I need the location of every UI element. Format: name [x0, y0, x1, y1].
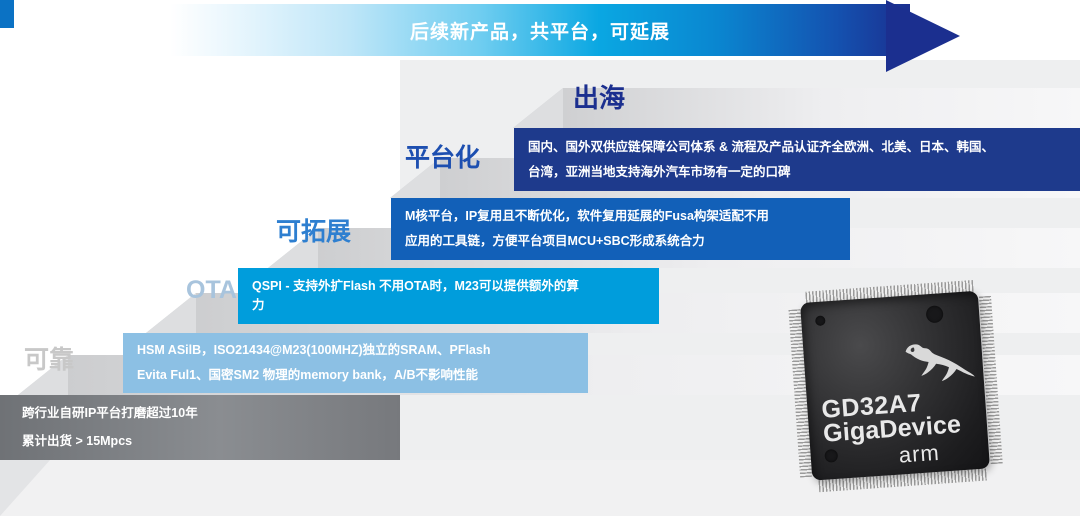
info-line: 力 — [252, 296, 645, 315]
chip-architecture: arm — [898, 440, 941, 469]
step-label-text: 可拓展 — [276, 218, 351, 246]
cheetah-logo-icon — [899, 335, 976, 386]
info-line: 国内、国外双供应链保障公司体系 & 流程及产品认证齐全欧洲、北美、日本、韩国、 — [528, 135, 1066, 160]
step-label-pingtaihua: 平台化 — [405, 138, 480, 174]
info-line: 应用的工具链，方便平台项目MCU+SBC形成系统合力 — [405, 229, 836, 254]
info-line: M核平台，IP复用且不断优化，软件复用延展的Fusa构架适配不用 — [405, 204, 836, 229]
chip-corner-dot — [824, 449, 838, 463]
info-line: 台湾，亚洲当地支持海外汽车市场有一定的口碑 — [528, 160, 1066, 185]
step-label-kekao: 可靠 — [24, 340, 74, 376]
info-line: 跨行业自研IP平台打磨超过10年 — [22, 400, 378, 428]
step-label-text: 平台化 — [405, 144, 480, 172]
info-line: Evita Ful1、国密SM2 物理的memory bank，A/B不影响性能 — [137, 363, 574, 388]
slide-canvas: 后续新产品，共平台，可延展 — [0, 0, 1080, 516]
chip-pin1-marker — [926, 305, 944, 323]
info-line: QSPI - 支持外扩Flash 不用OTA时，M23可以提供额外的算 — [252, 277, 645, 296]
info-box-ota: HSM ASilB，ISO21434@M23(100MHZ)独立的SRAM、PF… — [123, 333, 588, 393]
info-box-chuhai: 国内、国外双供应链保障公司体系 & 流程及产品认证齐全欧洲、北美、日本、韩国、 … — [514, 128, 1080, 191]
step-label-ota: OTA — [186, 276, 237, 305]
step-label-chuhai: 出海 — [573, 78, 625, 115]
chip-product-image: GD32A7 GigaDevice arm — [783, 272, 1027, 498]
step-label-ketuozhan: 可拓展 — [276, 212, 351, 248]
info-line: 累计出货 > 15Mpcs — [22, 428, 378, 456]
step-label-text: 出海 — [573, 83, 625, 113]
info-box-ketuozhan: QSPI - 支持外扩Flash 不用OTA时，M23可以提供额外的算 力 — [238, 268, 659, 324]
info-line: HSM ASilB，ISO21434@M23(100MHZ)独立的SRAM、PF… — [137, 338, 574, 363]
chip-corner-dot — [815, 315, 826, 326]
chip-package-body: GD32A7 GigaDevice arm — [800, 291, 990, 481]
step-label-text: 可靠 — [24, 346, 74, 374]
step-label-text: OTA — [186, 276, 237, 304]
info-box-pingtaihua: M核平台，IP复用且不断优化，软件复用延展的Fusa构架适配不用 应用的工具链，… — [391, 198, 850, 260]
info-box-kekao: 跨行业自研IP平台打磨超过10年 累计出货 > 15Mpcs — [0, 395, 400, 460]
